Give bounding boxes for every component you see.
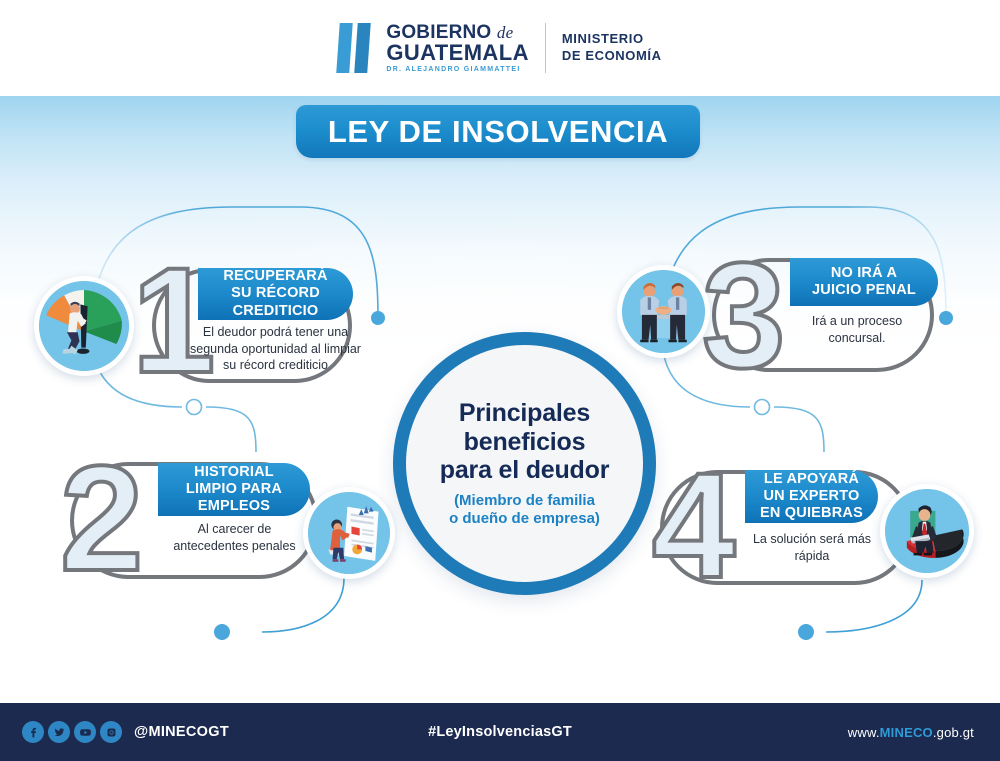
website-url[interactable]: www.MINECO.gob.gt bbox=[848, 725, 974, 740]
item1-heading: RECUPERARÁ SU RÉCORD CREDITICIO bbox=[198, 268, 353, 320]
resume-review-icon bbox=[308, 492, 390, 574]
item4-heading: LE APOYARÁ UN EXPERTO EN QUIEBRAS bbox=[745, 470, 878, 523]
item3-illustration bbox=[617, 265, 710, 358]
ministry-line-1: MINISTERIO bbox=[562, 31, 662, 48]
footer: @MINECOGT #LeyInsolvenciasGT www.MINECO.… bbox=[0, 703, 1000, 761]
item2-description: Al carecer de antecedentes penales bbox=[162, 521, 307, 554]
ministry-line-2: DE ECONOMÍA bbox=[562, 48, 662, 65]
logo-de: de bbox=[497, 23, 513, 42]
credit-gauge-icon bbox=[39, 281, 129, 371]
item1-heading-line-3: CREDITICIO bbox=[233, 303, 319, 319]
item2-heading: HISTORIAL LIMPIO PARA EMPLEOS bbox=[158, 463, 310, 516]
infographic-page: GOBIERNO de GUATEMALA DR. ALEJANDRO GIAM… bbox=[0, 0, 1000, 761]
logo-bars-icon bbox=[338, 23, 374, 73]
expert-piechart-icon bbox=[885, 489, 969, 573]
item1-heading-line-2: SU RÉCORD bbox=[231, 285, 320, 301]
item4-number: 4 bbox=[652, 450, 735, 600]
item2-heading-line-1: HISTORIAL bbox=[194, 464, 274, 480]
item1-heading-line-1: RECUPERARÁ bbox=[223, 268, 327, 284]
item1-description: El deudor podrá tener una segunda oportu… bbox=[188, 324, 363, 374]
item3-heading-line-1: NO IRÁ A bbox=[831, 265, 897, 281]
website-prefix: www. bbox=[848, 725, 880, 740]
item1-illustration bbox=[34, 276, 134, 376]
item4-heading-line-2: UN EXPERTO bbox=[763, 488, 859, 504]
logo-president: DR. ALEJANDRO GIAMMATTEI bbox=[386, 66, 529, 73]
item4-heading-line-1: LE APOYARÁ bbox=[764, 471, 859, 487]
center-sub-text: (Miembro de familia o dueño de empresa) bbox=[449, 492, 600, 528]
website-suffix: .gob.gt bbox=[933, 725, 974, 740]
handshake-icon bbox=[622, 270, 705, 353]
page-title: LEY DE INSOLVENCIA bbox=[328, 114, 668, 150]
item4-description: La solución será más rápida bbox=[742, 531, 882, 564]
item3-number: 3 bbox=[702, 240, 785, 390]
item3-heading-line-2: JUICIO PENAL bbox=[812, 282, 916, 298]
logo-text: GOBIERNO de GUATEMALA DR. ALEJANDRO GIAM… bbox=[386, 23, 529, 74]
center-line-1: Principales bbox=[440, 399, 609, 428]
item3-description: Irá a un proceso concursal. bbox=[782, 313, 932, 346]
item4-illustration bbox=[880, 484, 974, 578]
title-banner: LEY DE INSOLVENCIA bbox=[296, 105, 700, 158]
website-highlight: MINECO bbox=[880, 725, 933, 740]
center-sub-line-2: o dueño de empresa) bbox=[449, 510, 600, 528]
item2-heading-line-2: LIMPIO PARA bbox=[186, 481, 282, 497]
item4-heading-line-3: EN QUIEBRAS bbox=[760, 505, 863, 521]
item3-heading: NO IRÁ A JUICIO PENAL bbox=[790, 258, 938, 306]
center-line-3: para el deudor bbox=[440, 456, 609, 485]
government-logo: GOBIERNO de GUATEMALA DR. ALEJANDRO GIAM… bbox=[338, 23, 661, 74]
logo-divider bbox=[545, 23, 546, 73]
ministry-name: MINISTERIO DE ECONOMÍA bbox=[562, 31, 662, 64]
center-sub-line-1: (Miembro de familia bbox=[449, 492, 600, 510]
header: GOBIERNO de GUATEMALA DR. ALEJANDRO GIAM… bbox=[0, 0, 1000, 96]
item2-heading-line-3: EMPLEOS bbox=[198, 498, 270, 514]
logo-guatemala: GUATEMALA bbox=[386, 42, 529, 64]
item2-illustration bbox=[303, 487, 395, 579]
center-circle: Principales beneficios para el deudor (M… bbox=[393, 332, 656, 595]
center-main-text: Principales beneficios para el deudor bbox=[440, 399, 609, 485]
center-line-2: beneficios bbox=[440, 428, 609, 457]
item2-number: 2 bbox=[60, 443, 143, 593]
